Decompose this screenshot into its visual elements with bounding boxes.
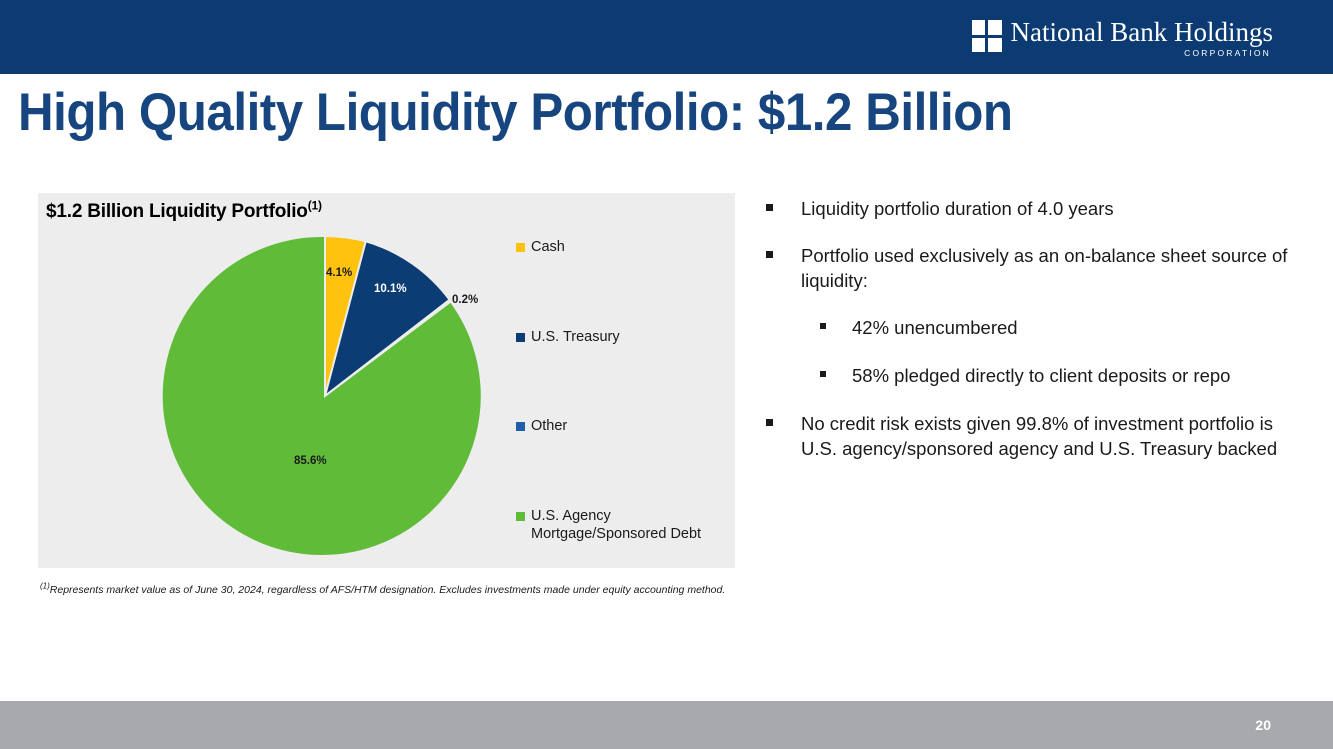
list-item: Liquidity portfolio duration of 4.0 year… [766,196,1311,221]
legend-item-cash: Cash [516,238,565,256]
list-item: 58% pledged directly to client deposits … [820,363,1311,388]
legend-swatch-us-agency [516,512,525,521]
list-item-text: Liquidity portfolio duration of 4.0 year… [801,196,1114,221]
footer-bar: 20 [0,701,1333,749]
list-item-text: Portfolio used exclusively as an on-bala… [801,243,1311,293]
bullet-square-icon [766,204,773,211]
list-item: 42% unencumbered [820,315,1311,340]
bullet-square-icon [766,419,773,426]
legend-label-us-agency: U.S. Agency Mortgage/Sponsored Debt [531,507,701,543]
chart-title-text: $1.2 Billion Liquidity Portfolio [46,201,308,222]
footnote-text: Represents market value as of June 30, 2… [50,584,725,596]
pie-label-us-treasury: 10.1% [374,283,407,295]
list-item-text: 42% unencumbered [852,315,1018,340]
key-points-list: Liquidity portfolio duration of 4.0 year… [766,196,1311,483]
logo-company-name: National Bank Holdings [1011,18,1273,46]
logo-text: National Bank Holdings CORPORATION [1011,18,1273,58]
pie-label-other: 0.2% [452,294,478,306]
legend-swatch-other [516,422,525,431]
pie-chart: 4.1% 10.1% 0.2% 85.6% [162,233,488,559]
list-item-text: No credit risk exists given 99.8% of inv… [801,411,1311,461]
bullet-square-icon [820,371,826,377]
legend-item-us-agency: U.S. Agency Mortgage/Sponsored Debt [516,507,701,543]
pie-label-us-agency: 85.6% [294,455,327,467]
list-item: No credit risk exists given 99.8% of inv… [766,411,1311,461]
legend-swatch-us-treasury [516,333,525,342]
bullet-square-icon [766,251,773,258]
chart-footnote: (1)Represents market value as of June 30… [40,583,755,597]
page-title: High Quality Liquidity Portfolio: $1.2 B… [18,83,1181,143]
legend-label-cash: Cash [531,238,565,256]
pie-label-cash: 4.1% [326,267,352,279]
pie-legend: Cash U.S. Treasury Other U.S. Agency Mor… [516,231,731,561]
company-logo: National Bank Holdings CORPORATION [972,18,1273,58]
pie-chart-svg [162,233,488,559]
legend-item-other: Other [516,417,567,435]
legend-label-other: Other [531,417,567,435]
bullet-square-icon [820,323,826,329]
legend-label-us-treasury: U.S. Treasury [531,328,620,346]
list-item: Portfolio used exclusively as an on-bala… [766,243,1311,293]
chart-title-footnote-marker: (1) [308,199,322,213]
logo-company-suffix: CORPORATION [1184,48,1271,58]
liquidity-portfolio-chart-panel: $1.2 Billion Liquidity Portfolio(1) 4.1%… [38,193,735,568]
footnote-marker: (1) [40,582,50,591]
page-number: 20 [1255,717,1271,733]
logo-grid-icon [972,20,1002,52]
chart-title: $1.2 Billion Liquidity Portfolio(1) [46,201,322,223]
legend-item-us-treasury: U.S. Treasury [516,328,620,346]
legend-swatch-cash [516,243,525,252]
header-bar: National Bank Holdings CORPORATION [0,0,1333,74]
list-item-text: 58% pledged directly to client deposits … [852,363,1230,388]
